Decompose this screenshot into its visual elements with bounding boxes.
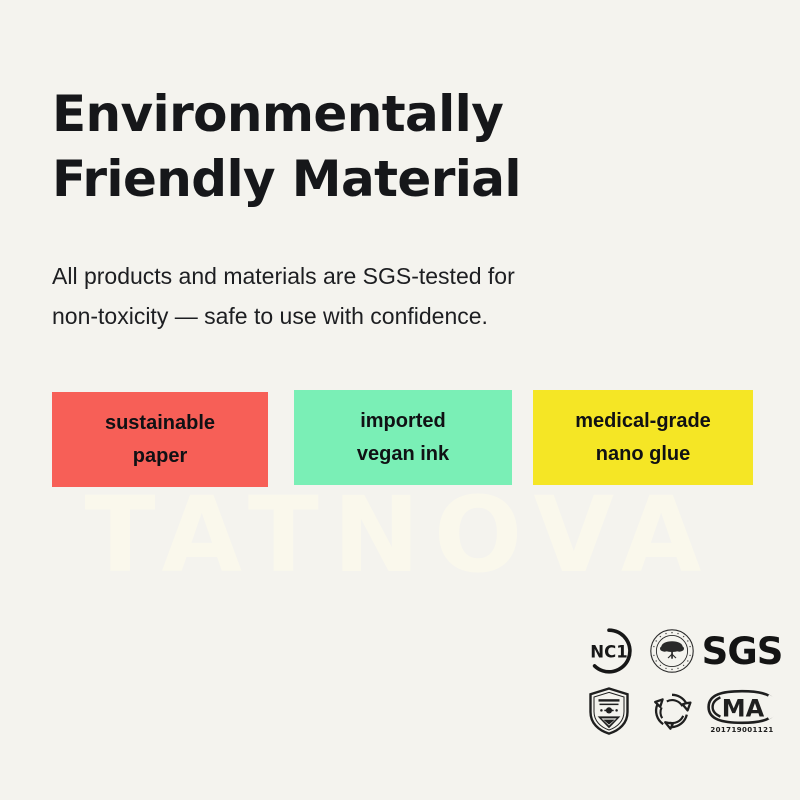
page-title-line-2: Friendly Material bbox=[52, 147, 752, 212]
page-subtitle: All products and materials are SGS-teste… bbox=[52, 257, 692, 336]
certification-logo-grid: NC1 bbox=[576, 622, 782, 742]
badge-medical-grade-nano-glue-line-1: medical-grade bbox=[575, 405, 711, 437]
poster-canvas: TATNOVA Environmentally Friendly Materia… bbox=[0, 0, 800, 800]
badge-medical-grade-nano-glue: medical-grade nano glue bbox=[533, 390, 753, 485]
forest-tree-seal-icon bbox=[649, 628, 695, 674]
svg-text:MA: MA bbox=[722, 694, 765, 722]
sgs-certification-label: SGS bbox=[702, 633, 783, 670]
badge-sustainable-paper: sustainable paper bbox=[52, 392, 268, 487]
brand-watermark: TATNOVA bbox=[0, 483, 800, 587]
page-title-line-1: Environmentally bbox=[52, 82, 752, 147]
badge-sustainable-paper-line-2: paper bbox=[133, 440, 187, 472]
page-subtitle-line-2: non-toxicity — safe to use with confiden… bbox=[52, 297, 692, 337]
badge-imported-vegan-ink-line-1: imported bbox=[360, 405, 446, 437]
page-title: Environmentally Friendly Material bbox=[52, 82, 752, 212]
recycling-arrows-icon bbox=[649, 688, 695, 734]
badge-sustainable-paper-line-1: sustainable bbox=[105, 407, 215, 439]
cma-certification-icon: MA 201719001121 bbox=[706, 689, 778, 734]
sgs-certification-icon: SGS bbox=[702, 633, 783, 670]
badge-medical-grade-nano-glue-line-2: nano glue bbox=[596, 438, 690, 470]
svg-text:NC1: NC1 bbox=[590, 643, 627, 662]
nc1-certification-icon: NC1 bbox=[585, 627, 633, 675]
badge-imported-vegan-ink-line-2: vegan ink bbox=[357, 438, 449, 470]
cma-certification-code: 201719001121 bbox=[710, 727, 773, 734]
material-badge-row: sustainable paper imported vegan ink med… bbox=[52, 390, 756, 487]
page-subtitle-line-1: All products and materials are SGS-teste… bbox=[52, 257, 692, 297]
shield-certification-icon bbox=[587, 686, 631, 736]
badge-imported-vegan-ink: imported vegan ink bbox=[294, 390, 512, 485]
